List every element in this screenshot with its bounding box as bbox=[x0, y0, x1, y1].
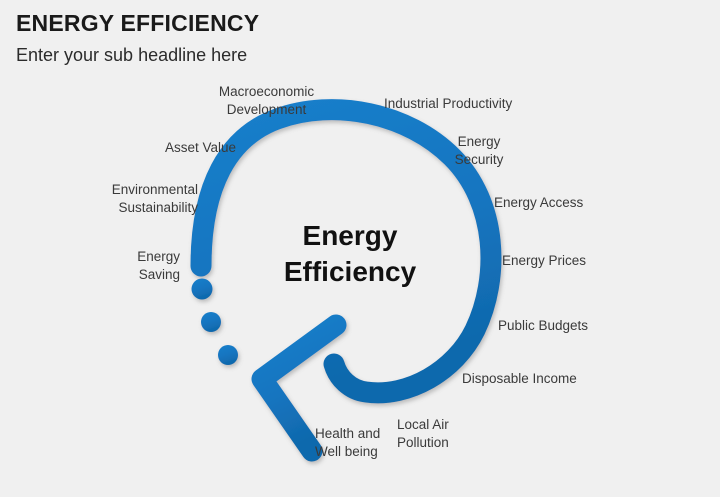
center-label-line2: Efficiency bbox=[255, 254, 445, 290]
diagram-label-public-budgets: Public Budgets bbox=[498, 317, 598, 335]
diagram-label-line: Disposable Income bbox=[462, 370, 582, 388]
diagram-label-health-and-well-being: Health andWell being bbox=[315, 425, 393, 460]
diagram-label-line: Industrial Productivity bbox=[384, 95, 524, 113]
diagram-label-line: Public Budgets bbox=[498, 317, 598, 335]
diagram-label-line: Macroeconomic bbox=[214, 83, 319, 101]
trail-dot-2 bbox=[201, 312, 221, 332]
diagram-label-energy-saving: EnergySaving bbox=[118, 248, 180, 283]
diagram-label-environmental-sustainability: EnvironmentalSustainability bbox=[98, 181, 198, 216]
trail-dot-1 bbox=[192, 279, 213, 300]
center-label-line1: Energy bbox=[255, 218, 445, 254]
diagram-label-line: Security bbox=[448, 151, 510, 169]
diagram-label-asset-value: Asset Value bbox=[130, 139, 236, 157]
diagram-label-line: Environmental bbox=[98, 181, 198, 199]
diagram-label-line: Energy bbox=[118, 248, 180, 266]
diagram-label-energy-security: EnergySecurity bbox=[448, 133, 510, 168]
diagram-label-line: Well being bbox=[315, 443, 393, 461]
diagram-label-line: Asset Value bbox=[130, 139, 236, 157]
slide-canvas: ENERGY EFFICIENCY Enter your sub headlin… bbox=[0, 0, 720, 497]
diagram-label-line: Development bbox=[214, 101, 319, 119]
diagram-label-macroeconomic-development: MacroeconomicDevelopment bbox=[214, 83, 319, 118]
diagram-label-line: Sustainability bbox=[98, 199, 198, 217]
trail-dot-3 bbox=[218, 345, 238, 365]
diagram-label-industrial-productivity: Industrial Productivity bbox=[384, 95, 524, 113]
diagram-label-line: Pollution bbox=[397, 434, 467, 452]
diagram-label-local-air-pollution: Local AirPollution bbox=[397, 416, 467, 451]
diagram-label-energy-prices: Energy Prices bbox=[502, 252, 597, 270]
diagram-label-line: Local Air bbox=[397, 416, 467, 434]
diagram-label-line: Energy Access bbox=[494, 194, 594, 212]
diagram-label-line: Health and bbox=[315, 425, 393, 443]
center-label: Energy Efficiency bbox=[255, 218, 445, 290]
diagram-label-disposable-income: Disposable Income bbox=[462, 370, 582, 388]
diagram-label-energy-access: Energy Access bbox=[494, 194, 594, 212]
diagram-label-line: Energy bbox=[448, 133, 510, 151]
diagram-label-line: Energy Prices bbox=[502, 252, 597, 270]
diagram-label-line: Saving bbox=[118, 266, 180, 284]
